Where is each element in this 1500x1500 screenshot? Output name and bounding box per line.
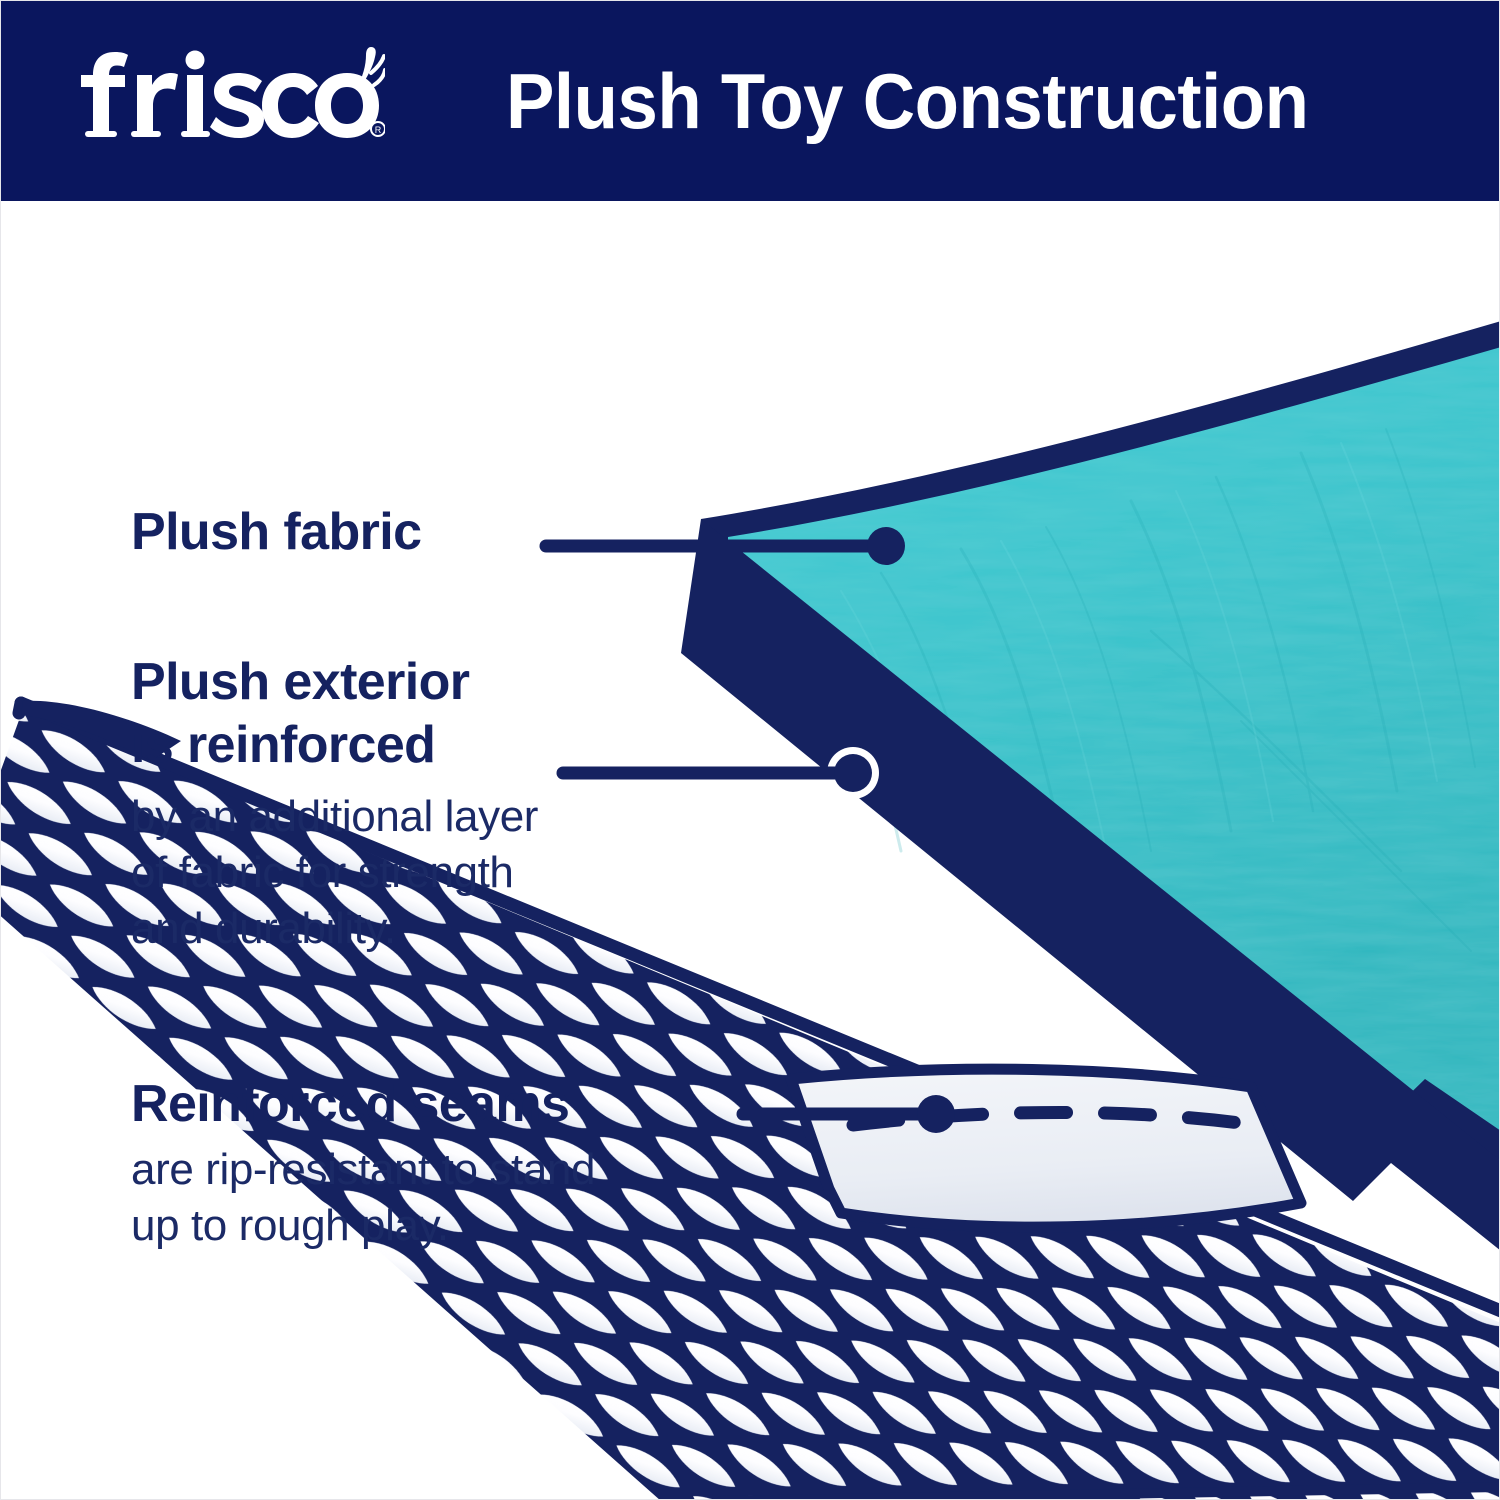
mesh-band-left-edge — [19, 703, 21, 713]
callout-reinforced-seams-body: are rip-resistant to stand up to rough p… — [131, 1142, 595, 1254]
leader-dot-reinforced — [834, 754, 872, 792]
callout-plush-fabric: Plush fabric — [131, 501, 421, 564]
seam-flap-layer — [791, 1069, 1301, 1227]
callout-plush-exterior-body: by an additional layer of fabric for str… — [131, 789, 538, 957]
page-title: Plush Toy Construction — [506, 51, 1308, 151]
svg-text:R: R — [375, 125, 382, 135]
callout-reinforced-seams: Reinforced seams are rip-resistant to st… — [131, 1073, 595, 1254]
leader-dot-seams — [917, 1095, 955, 1133]
leader-dot-plush-fabric — [867, 527, 905, 565]
callout-plush-exterior: Plush exterior is reinforced by an addit… — [131, 651, 538, 957]
callout-plush-exterior-title: Plush exterior is reinforced — [131, 651, 538, 777]
frisco-logo: R — [75, 47, 385, 147]
seam-flap-shape — [791, 1069, 1301, 1227]
callout-plush-fabric-title: Plush fabric — [131, 501, 421, 564]
infographic-page: R Plush Toy Construction — [0, 0, 1500, 1500]
header-bar: R Plush Toy Construction — [1, 1, 1500, 201]
callout-reinforced-seams-title: Reinforced seams — [131, 1073, 595, 1136]
